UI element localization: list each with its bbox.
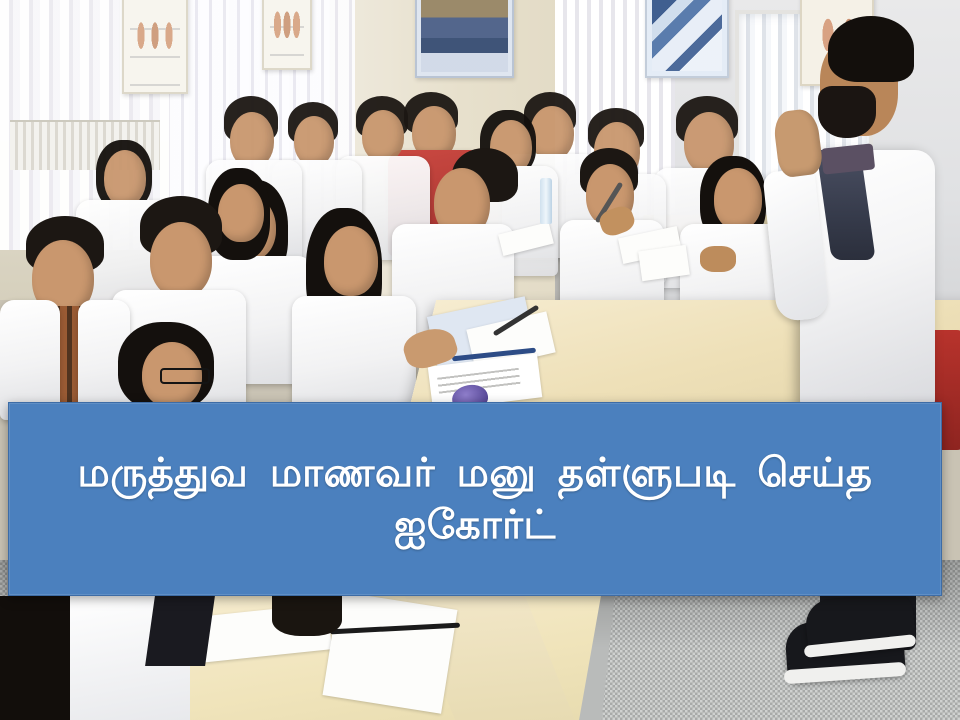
student-head <box>104 150 146 206</box>
student-head <box>294 116 334 166</box>
student-head <box>324 226 378 296</box>
student-head <box>218 184 264 242</box>
student-hand <box>700 246 736 272</box>
anatomy-poster-small-icon <box>262 0 312 70</box>
headline-banner: மருத்துவ மாணவர் மனு தள்ளுபடி செய்த ஐகோர்… <box>8 402 942 596</box>
student-head <box>150 222 212 298</box>
student-dark-clothing <box>145 596 215 666</box>
student-head <box>362 110 404 162</box>
paper-sheet <box>323 591 458 713</box>
instructor-collar <box>821 143 875 174</box>
anatomy-poster-figures <box>130 2 180 86</box>
student-hair-foreground <box>0 596 70 720</box>
student-hair-foreground <box>272 596 342 636</box>
instructor-hair <box>828 16 914 82</box>
wall-poster-diagram-icon <box>645 0 729 78</box>
instructor-beard <box>818 86 876 138</box>
anatomy-poster-icon <box>122 0 188 94</box>
news-graphic-stage: மருத்துவ மாணவர் மனு தள்ளுபடி செய்த ஐகோர்… <box>0 0 960 720</box>
student-lab-coat <box>292 296 416 414</box>
glasses-icon <box>160 368 210 384</box>
anatomy-poster-figures-small <box>270 0 304 62</box>
headline-text: மருத்துவ மாணவர் மனு தள்ளுபடி செய்த ஐகோர்… <box>9 447 941 551</box>
water-bottle <box>540 178 552 224</box>
student-head <box>714 168 762 230</box>
classroom-photo <box>0 0 960 720</box>
student-head <box>530 106 574 160</box>
wall-poster-blue-icon <box>415 0 514 78</box>
